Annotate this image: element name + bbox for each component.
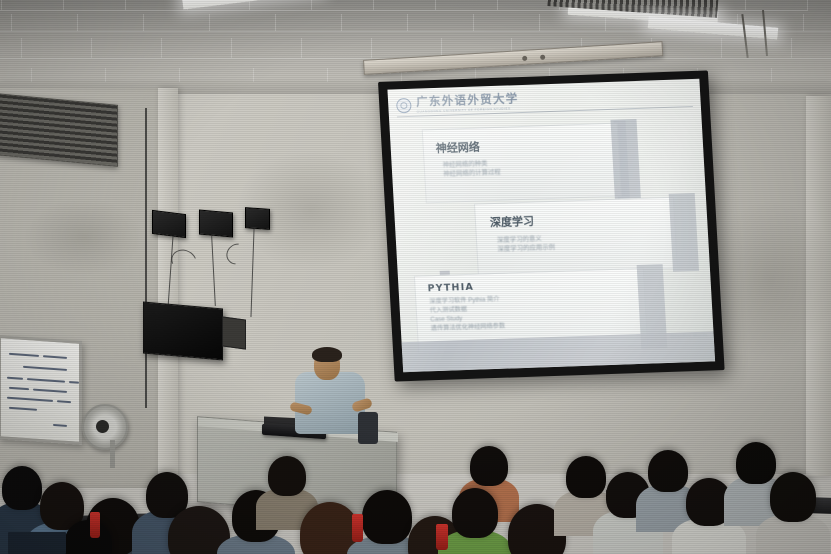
ceiling-tile — [64, 0, 126, 11]
ceiling-tile — [746, 0, 808, 11]
whiteboard-stroke — [33, 389, 67, 393]
ceiling-tile — [2, 0, 64, 11]
agenda-card-2-title: 深度学习 — [490, 208, 675, 230]
audience-head — [736, 442, 776, 484]
wall-conduit — [145, 108, 147, 408]
speaker-right — [245, 207, 270, 230]
ceiling-tile — [126, 0, 188, 11]
ceiling-tile — [804, 14, 831, 32]
desk-bottle — [436, 524, 448, 550]
ceiling-tile — [0, 38, 22, 59]
ceiling-tile — [374, 0, 436, 11]
speaker-center — [199, 210, 233, 238]
lecture-hall-photo: 广东外语外贸大学 GUANGDONG UNIVERSITY OF FOREIGN… — [0, 0, 831, 554]
desk-bottle — [90, 512, 100, 538]
seated-audience — [0, 432, 831, 554]
agenda-card-1-title: 神经网络 — [435, 134, 618, 156]
ceiling-tile — [408, 14, 474, 32]
student-laptop — [8, 532, 66, 554]
audience-head — [2, 466, 42, 510]
audience-head — [648, 450, 688, 492]
ceiling-tile — [144, 14, 210, 32]
audience-head — [452, 488, 498, 538]
ceiling-tile — [12, 14, 78, 32]
whiteboard-stroke — [9, 353, 39, 357]
projection-screen-frame[interactable]: 广东外语外贸大学 GUANGDONG UNIVERSITY OF FOREIGN… — [378, 70, 725, 381]
agenda-card-1[interactable]: 神经网络 神经网络的种类 神经网络的计算过程 — [422, 123, 622, 204]
whiteboard — [0, 335, 82, 445]
audience-head — [470, 446, 508, 486]
ceiling-tile — [22, 38, 92, 59]
housing-indicator-1 — [522, 56, 527, 61]
whiteboard-stroke — [69, 381, 79, 384]
audience-head — [362, 490, 412, 544]
wall-smudge-1 — [24, 198, 144, 276]
audience-head — [566, 456, 606, 498]
ceiling-tile — [312, 0, 374, 11]
ceiling-tile — [162, 38, 232, 59]
presentation-slide: 广东外语外贸大学 GUANGDONG UNIVERSITY OF FOREIGN… — [387, 79, 715, 372]
ceiling-tile — [232, 38, 302, 59]
speaker-left — [152, 210, 186, 238]
whiteboard-stroke — [7, 397, 53, 402]
desk-bottle — [352, 514, 363, 542]
slide-agenda-cards: 神经网络 神经网络的种类 神经网络的计算过程 深度学习 深度学习的意义 深度学习… — [397, 112, 706, 354]
wall-column — [158, 88, 178, 480]
whiteboard-stroke — [23, 366, 67, 371]
whiteboard-stroke — [7, 377, 23, 380]
whiteboard-stroke — [43, 355, 67, 359]
slide-header: 广东外语外贸大学 GUANGDONG UNIVERSITY OF FOREIGN… — [396, 85, 693, 117]
whiteboard-stroke — [57, 400, 71, 403]
ceiling-tile — [436, 0, 498, 11]
monitor-bracket — [222, 316, 246, 349]
ceiling-tile — [0, 14, 12, 32]
audience-head — [268, 456, 306, 496]
ceiling-tile — [250, 0, 312, 11]
university-seal-icon — [396, 98, 412, 114]
whiteboard-stroke — [53, 424, 67, 427]
audience-head — [770, 472, 816, 522]
ceiling-tile — [474, 14, 540, 32]
whiteboard-stroke — [27, 378, 65, 383]
presenter-hair — [312, 347, 342, 362]
ceiling-tile — [276, 14, 342, 32]
projection-screen-surface: 广东外语外贸大学 GUANGDONG UNIVERSITY OF FOREIGN… — [387, 79, 715, 372]
wall-mounted-monitor — [143, 302, 223, 361]
whiteboard-stroke — [9, 407, 37, 411]
ceiling-tile — [210, 14, 276, 32]
ceiling-tile — [722, 38, 792, 59]
whiteboard-stroke — [9, 387, 29, 390]
ceiling-tile — [78, 14, 144, 32]
ceiling-tile — [92, 38, 162, 59]
ceiling-tile — [792, 38, 831, 59]
wall-vent-grille — [0, 93, 118, 167]
ceiling-tile — [342, 14, 408, 32]
ceiling-tile — [302, 38, 372, 59]
housing-indicator-2 — [540, 55, 545, 60]
